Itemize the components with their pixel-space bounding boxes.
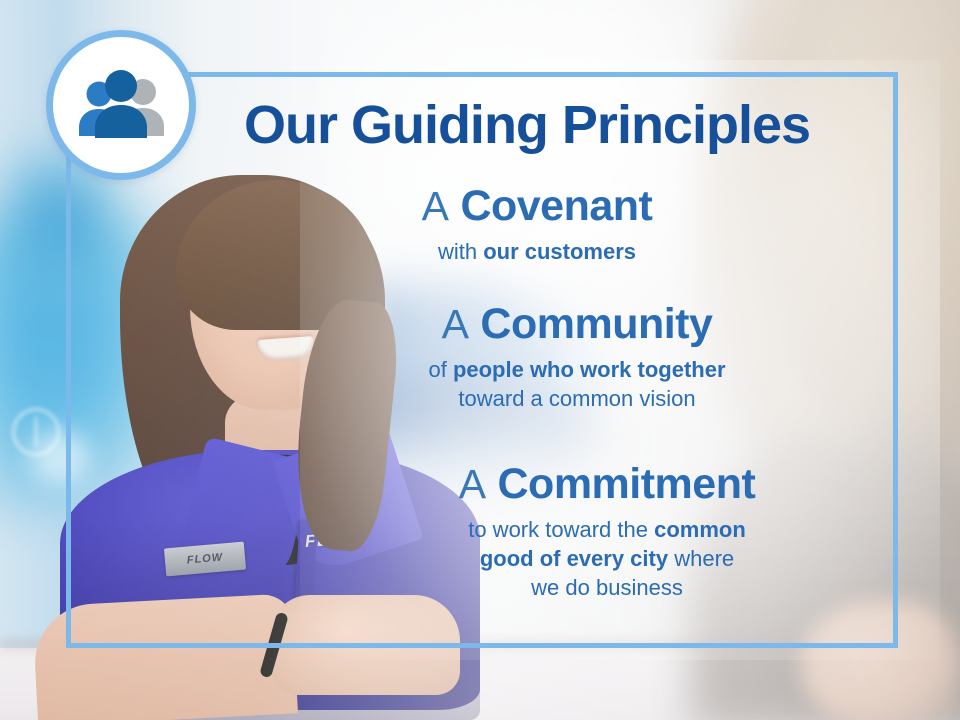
principle-line: with our customers	[176, 237, 898, 266]
principle-keyword: Covenant	[460, 182, 652, 230]
principle-article: A	[442, 301, 469, 347]
principle-covenant: A Covenant with our customers	[66, 184, 898, 266]
principle-article: A	[422, 183, 449, 229]
principle-line: good of every city where	[316, 544, 898, 573]
principle-keyword: Commitment	[498, 460, 756, 508]
text-run-bold: people who work together	[453, 357, 726, 382]
text-run: where	[668, 546, 734, 571]
principle-headline: A Community	[256, 302, 898, 347]
text-run-bold: common	[654, 517, 746, 542]
principle-article: A	[459, 461, 486, 507]
principle-line: toward a common vision	[256, 384, 898, 413]
principle-headline: A Commitment	[316, 462, 898, 507]
principle-description: with our customers	[176, 237, 898, 266]
principle-headline: A Covenant	[176, 184, 898, 229]
principle-line: of people who work together	[256, 355, 898, 384]
content-area: Our Guiding Principles A Covenant with o…	[66, 72, 898, 648]
text-run: to work toward the	[468, 517, 654, 542]
principle-line: to work toward the common	[316, 515, 898, 544]
text-run-bold: good of every city	[480, 546, 668, 571]
principle-commitment: A Commitment to work toward the common g…	[66, 462, 898, 602]
text-run: of	[428, 357, 452, 382]
page-title: Our Guiding Principles	[66, 98, 898, 152]
principle-description: to work toward the common good of every …	[316, 515, 898, 602]
principle-line: we do business	[316, 573, 898, 602]
principle-community: A Community of people who work together …	[66, 302, 898, 413]
guiding-principles-graphic: FLOW FLOW	[0, 0, 960, 720]
principle-description: of people who work together toward a com…	[256, 355, 898, 413]
text-run: with	[438, 239, 483, 264]
text-run-bold: our customers	[483, 239, 636, 264]
principle-keyword: Community	[480, 300, 712, 348]
